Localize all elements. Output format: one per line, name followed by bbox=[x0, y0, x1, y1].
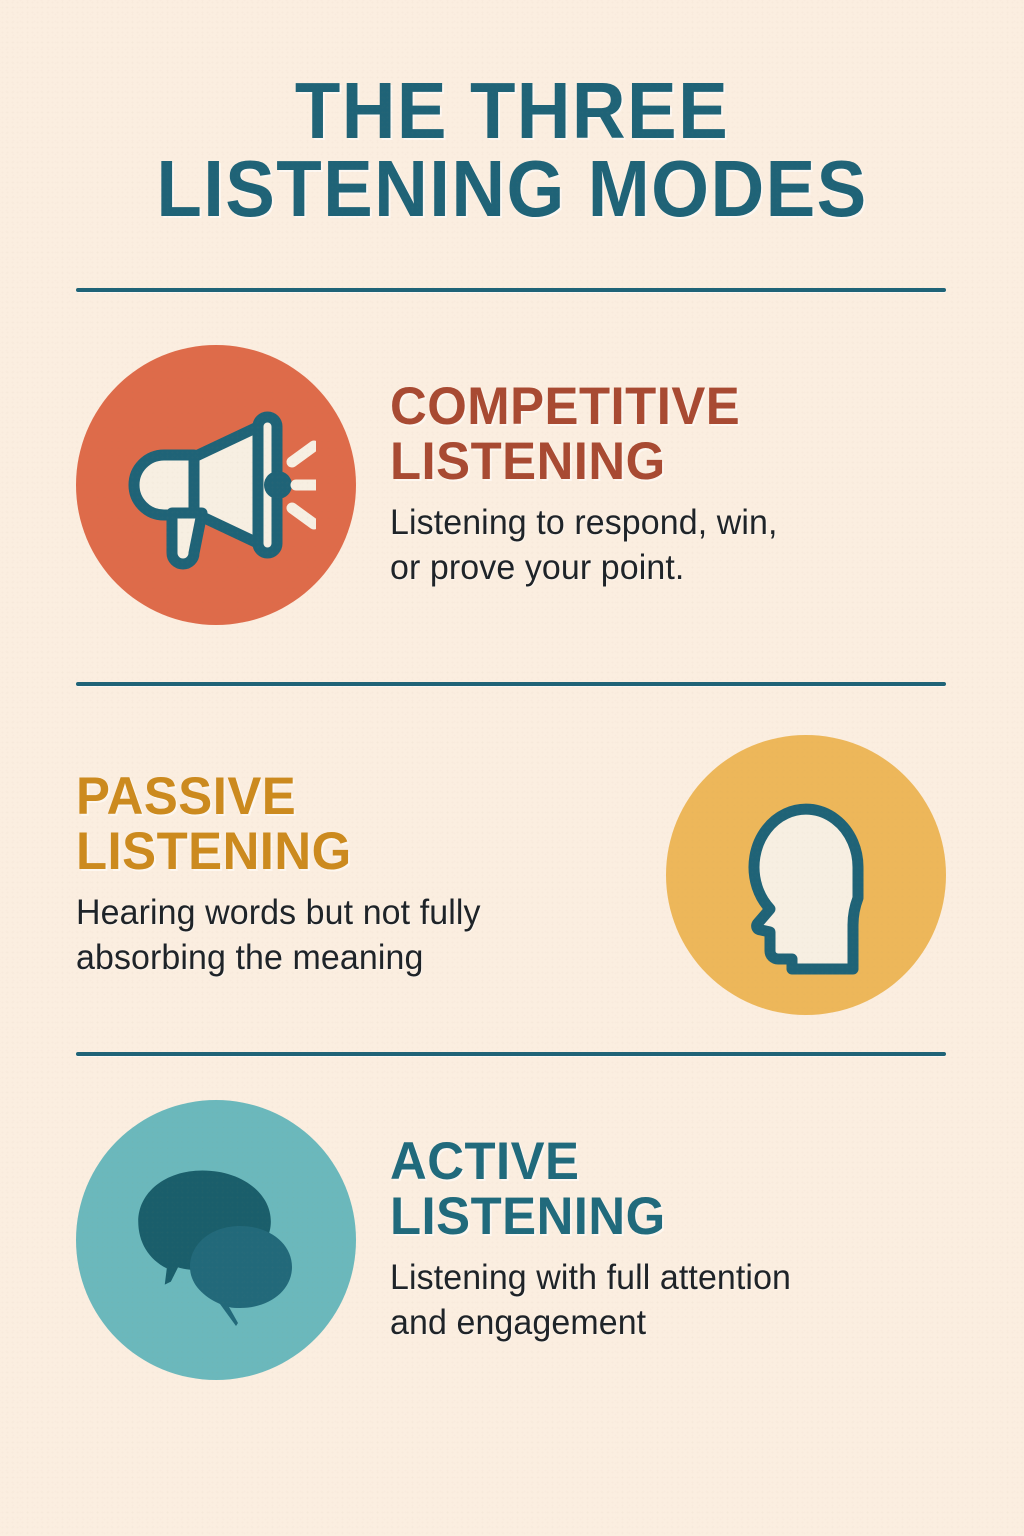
divider-middle bbox=[76, 682, 946, 686]
active-text-column: ACTIVE LISTENING Listening with full att… bbox=[356, 1135, 946, 1344]
competitive-text-column: COMPETITIVE LISTENING Listening to respo… bbox=[356, 380, 946, 589]
active-heading: ACTIVE LISTENING bbox=[390, 1135, 924, 1244]
infographic-poster: THE THREE LISTENING MODES bbox=[0, 0, 1024, 1536]
divider-bottom bbox=[76, 1052, 946, 1056]
page-title: THE THREE LISTENING MODES bbox=[0, 72, 1024, 229]
megaphone-icon bbox=[116, 385, 316, 585]
competitive-description: Listening to respond, win, or prove your… bbox=[390, 501, 929, 589]
competitive-heading-word-2: LISTENING bbox=[390, 435, 924, 490]
competitive-desc-line-1: Listening to respond, win, bbox=[390, 501, 929, 545]
megaphone-icon-badge bbox=[76, 345, 356, 625]
divider-top bbox=[76, 288, 946, 292]
active-heading-word-1: ACTIVE bbox=[390, 1135, 924, 1190]
title-line-1: THE THREE bbox=[36, 72, 988, 150]
passive-description: Hearing words but not fully absorbing th… bbox=[76, 891, 619, 979]
head-profile-icon-badge bbox=[666, 735, 946, 1015]
passive-heading-word-2: LISTENING bbox=[76, 825, 614, 880]
speech-bubbles-icon-badge bbox=[76, 1100, 356, 1380]
section-active-listening: ACTIVE LISTENING Listening with full att… bbox=[76, 1100, 946, 1380]
competitive-heading-word-1: COMPETITIVE bbox=[390, 380, 924, 435]
competitive-desc-line-2: or prove your point. bbox=[390, 546, 929, 590]
active-description: Listening with full attention and engage… bbox=[390, 1256, 929, 1344]
speech-bubbles-icon bbox=[116, 1140, 316, 1340]
passive-desc-line-2: absorbing the meaning bbox=[76, 936, 619, 980]
passive-desc-line-1: Hearing words but not fully bbox=[76, 891, 619, 935]
active-desc-line-2: and engagement bbox=[390, 1301, 929, 1345]
active-heading-word-2: LISTENING bbox=[390, 1190, 924, 1245]
section-competitive-listening: COMPETITIVE LISTENING Listening to respo… bbox=[76, 345, 946, 625]
section-passive-listening: PASSIVE LISTENING Hearing words but not … bbox=[76, 735, 946, 1015]
passive-heading-word-1: PASSIVE bbox=[76, 770, 614, 825]
title-line-2: LISTENING MODES bbox=[36, 150, 988, 228]
passive-heading: PASSIVE LISTENING bbox=[76, 770, 614, 879]
active-desc-line-1: Listening with full attention bbox=[390, 1256, 929, 1300]
competitive-heading: COMPETITIVE LISTENING bbox=[390, 380, 924, 489]
head-profile-icon bbox=[706, 775, 906, 975]
passive-text-column: PASSIVE LISTENING Hearing words but not … bbox=[76, 770, 666, 979]
